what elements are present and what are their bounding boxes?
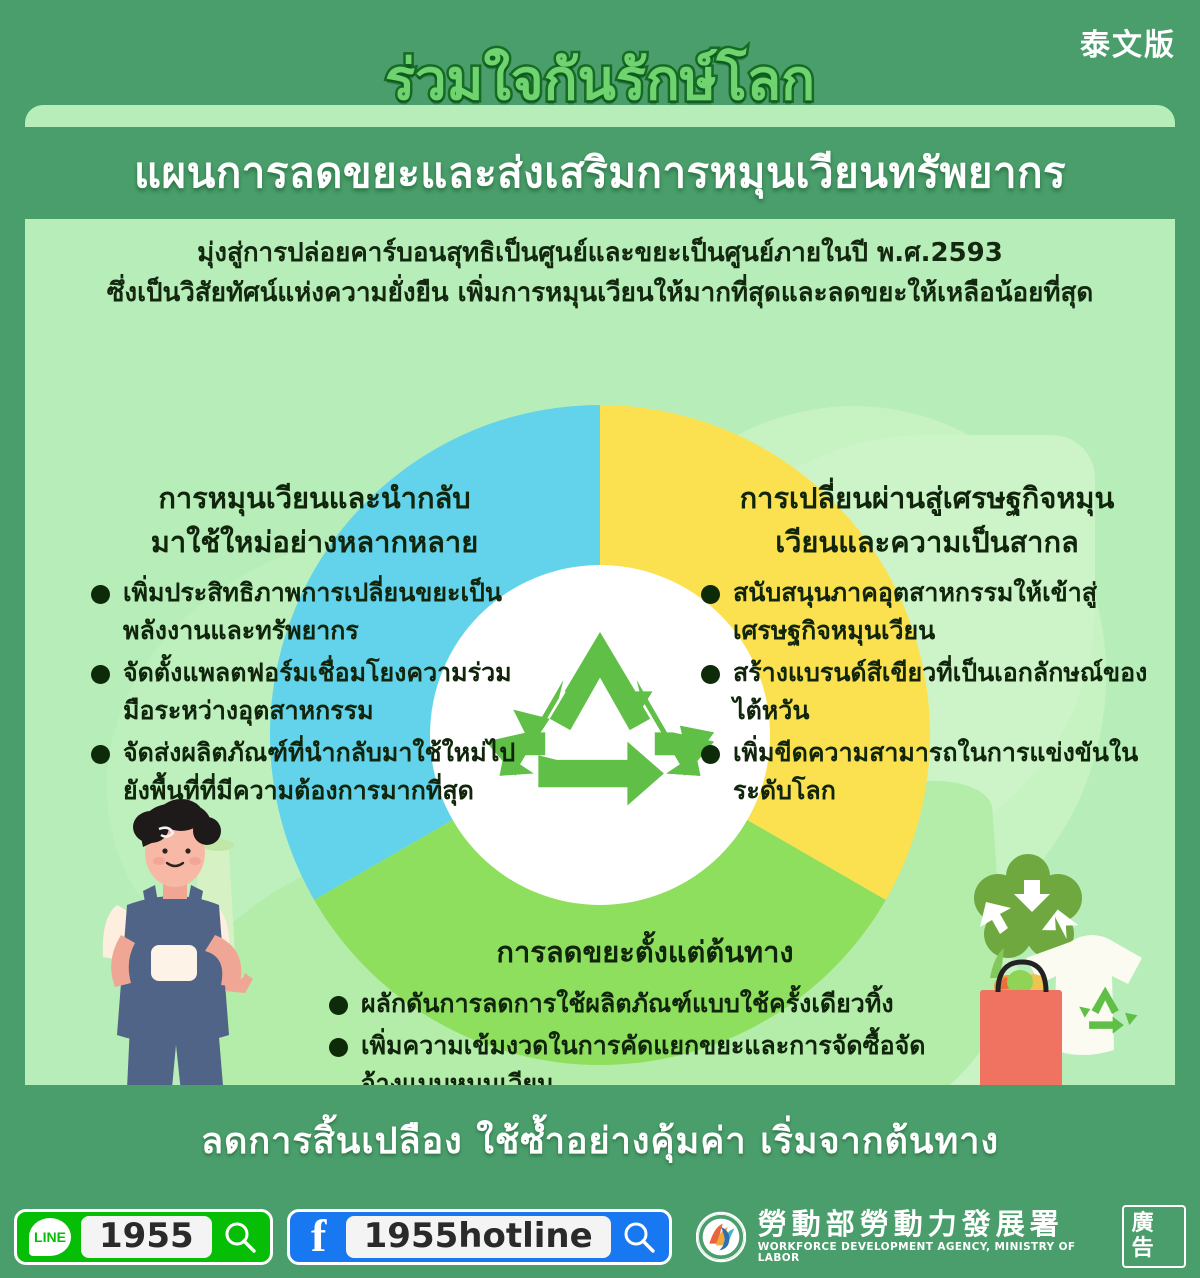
lead-line-2: ซึ่งเป็นวิสัยทัศน์แห่งความยั่งยืน เพิ่มก…	[25, 273, 1175, 313]
agency-branding: 勞動部勞動力發展署 WORKFORCE DEVELOPMENT AGENCY, …	[696, 1209, 1108, 1264]
slogan-band: ลดการสิ้นเปลือง ใช้ซ้ำอย่างคุ้มค่า เริ่ม…	[0, 1085, 1200, 1195]
sector-right-title-line2: เวียนและความเป็นสากล	[775, 525, 1079, 559]
line-icon: LINE	[29, 1218, 71, 1256]
search-icon[interactable]	[222, 1219, 258, 1255]
footer-bar: LINE 1955 f 1955hotline	[0, 1195, 1200, 1278]
search-icon[interactable]	[621, 1219, 657, 1255]
leaf-recycle-badge	[974, 854, 1082, 958]
sector-left-title-line2: มาใช้ใหม่อย่างหลากหลาย	[151, 525, 478, 559]
facebook-icon: f	[302, 1215, 336, 1259]
sector-right-text: การเปลี่ยนผ่านสู่เศรษฐกิจหมุน เวียนและคว…	[697, 477, 1157, 814]
lead-line-1: มุ่งสู่การปล่อยคาร์บอนสุทธิเป็นศูนย์และข…	[25, 233, 1175, 273]
agency-name-zh: 勞動部勞動力發展署	[758, 1209, 1108, 1239]
sector-right-title-line1: การเปลี่ยนผ่านสู่เศรษฐกิจหมุน	[740, 481, 1115, 515]
sector-left-text: การหมุนเวียนและนำกลับ มาใช้ใหม่อย่างหลาก…	[87, 477, 542, 814]
page-title: ร่วมใจกันรักษ์โลก	[0, 52, 1200, 111]
list-item: จัดตั้งแพลตฟอร์มเชื่อมโยงความร่วมมือระหว…	[87, 654, 542, 730]
poster-root: 泰文版 แผนการลดขยะและส่งเสริมการหมุนเวียนทร…	[0, 0, 1200, 1278]
advertisement-label: 廣告	[1122, 1205, 1186, 1267]
sector-left-title-line1: การหมุนเวียนและนำกลับ	[158, 481, 470, 515]
agency-name-en: WORKFORCE DEVELOPMENT AGENCY, MINISTRY O…	[758, 1242, 1108, 1264]
list-item: เพิ่มประสิทธิภาพการเปลี่ยนขยะเป็นพลังงาน…	[87, 574, 542, 650]
list-item: สร้างแบรนด์สีเขียวที่เป็นเอกลักษณ์ของไต้…	[697, 654, 1157, 730]
facebook-contact-pill[interactable]: f 1955hotline	[287, 1209, 672, 1265]
facebook-page-value: 1955hotline	[346, 1216, 611, 1258]
agency-name-block: 勞動部勞動力發展署 WORKFORCE DEVELOPMENT AGENCY, …	[758, 1209, 1108, 1264]
sector-left-title: การหมุนเวียนและนำกลับ มาใช้ใหม่อย่างหลาก…	[87, 477, 542, 564]
lead-paragraph: มุ่งสู่การปล่อยคาร์บอนสุทธิเป็นศูนย์และข…	[25, 233, 1175, 314]
list-item: สนับสนุนภาคอุตสาหกรรมให้เข้าสู่เศรษฐกิจห…	[697, 574, 1157, 650]
sector-right-bullets: สนับสนุนภาคอุตสาหกรรมให้เข้าสู่เศรษฐกิจห…	[697, 574, 1157, 810]
sector-left-bullets: เพิ่มประสิทธิภาพการเปลี่ยนขยะเป็นพลังงาน…	[87, 574, 542, 810]
line-contact-pill[interactable]: LINE 1955	[14, 1209, 273, 1265]
slogan-text: ลดการสิ้นเปลือง ใช้ซ้ำอย่างคุ้มค่า เริ่ม…	[201, 1112, 999, 1169]
sector-bottom-title: การลดขยะตั้งแต่ต้นทาง	[325, 931, 965, 975]
content-panel: แผนการลดขยะและส่งเสริมการหมุนเวียนทรัพยา…	[25, 105, 1175, 1195]
agency-seal-icon	[696, 1211, 746, 1263]
line-id-value: 1955	[81, 1216, 212, 1258]
list-item: เพิ่มขีดความสามารถในการแข่งขันในระดับโลก	[697, 734, 1157, 810]
list-item: ผลักดันการลดการใช้ผลิตภัณฑ์แบบใช้ครั้งเด…	[325, 985, 965, 1023]
subtitle-text: แผนการลดขยะและส่งเสริมการหมุนเวียนทรัพยา…	[134, 140, 1066, 206]
subtitle-banner: แผนการลดขยะและส่งเสริมการหมุนเวียนทรัพยา…	[25, 127, 1175, 219]
sector-bottom-text: การลดขยะตั้งแต่ต้นทาง ผลักดันการลดการใช้…	[325, 931, 965, 1107]
sector-right-title: การเปลี่ยนผ่านสู่เศรษฐกิจหมุน เวียนและคว…	[697, 477, 1157, 564]
